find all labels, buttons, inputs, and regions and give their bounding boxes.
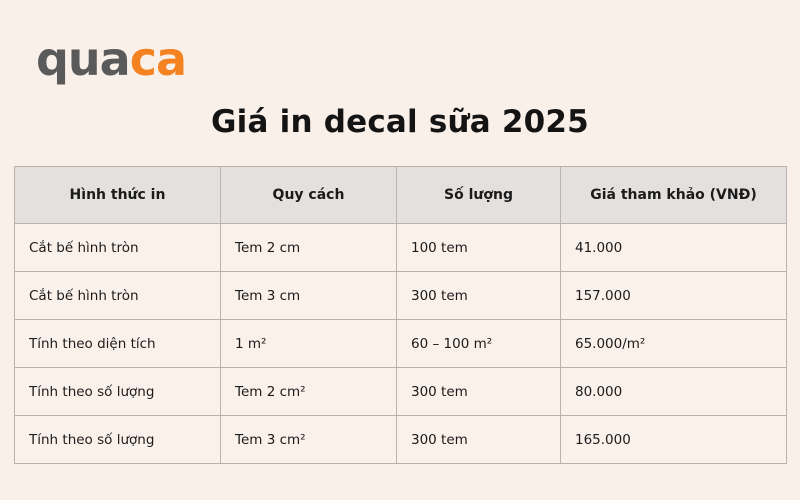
cell-price: 65.000/m² — [561, 320, 787, 368]
table-row: Tính theo diện tích 1 m² 60 – 100 m² 65.… — [15, 320, 787, 368]
cell-quantity: 300 tem — [397, 272, 561, 320]
cell-print-type: Cắt bế hình tròn — [15, 272, 221, 320]
column-header-spec: Quy cách — [221, 167, 397, 224]
table-row: Cắt bế hình tròn Tem 3 cm 300 tem 157.00… — [15, 272, 787, 320]
cell-price: 41.000 — [561, 224, 787, 272]
column-header-quantity: Số lượng — [397, 167, 561, 224]
brand-logo: quaca — [36, 36, 186, 82]
cell-print-type: Cắt bế hình tròn — [15, 224, 221, 272]
cell-quantity: 100 tem — [397, 224, 561, 272]
cell-price: 157.000 — [561, 272, 787, 320]
cell-quantity: 60 – 100 m² — [397, 320, 561, 368]
cell-spec: Tem 3 cm² — [221, 416, 397, 464]
cell-spec: Tem 2 cm² — [221, 368, 397, 416]
table-body: Cắt bế hình tròn Tem 2 cm 100 tem 41.000… — [15, 224, 787, 464]
table-row: Cắt bế hình tròn Tem 2 cm 100 tem 41.000 — [15, 224, 787, 272]
cell-quantity: 300 tem — [397, 416, 561, 464]
column-header-price: Giá tham khảo (VNĐ) — [561, 167, 787, 224]
price-table: Hình thức in Quy cách Số lượng Giá tham … — [14, 166, 787, 464]
table-header-row: Hình thức in Quy cách Số lượng Giá tham … — [15, 167, 787, 224]
table-header: Hình thức in Quy cách Số lượng Giá tham … — [15, 167, 787, 224]
cell-price: 165.000 — [561, 416, 787, 464]
cell-spec: Tem 2 cm — [221, 224, 397, 272]
cell-price: 80.000 — [561, 368, 787, 416]
cell-quantity: 300 tem — [397, 368, 561, 416]
cell-spec: 1 m² — [221, 320, 397, 368]
logo-text-accent: ca — [130, 32, 186, 86]
table-row: Tính theo số lượng Tem 2 cm² 300 tem 80.… — [15, 368, 787, 416]
page-title: Giá in decal sữa 2025 — [0, 104, 800, 140]
table-row: Tính theo số lượng Tem 3 cm² 300 tem 165… — [15, 416, 787, 464]
column-header-print-type: Hình thức in — [15, 167, 221, 224]
cell-print-type: Tính theo số lượng — [15, 416, 221, 464]
logo-text-primary: qua — [36, 32, 130, 86]
price-table-container: Hình thức in Quy cách Số lượng Giá tham … — [14, 166, 786, 464]
cell-spec: Tem 3 cm — [221, 272, 397, 320]
infographic-page: quaca Giá in decal sữa 2025 Hình thức in… — [0, 0, 800, 500]
cell-print-type: Tính theo diện tích — [15, 320, 221, 368]
cell-print-type: Tính theo số lượng — [15, 368, 221, 416]
